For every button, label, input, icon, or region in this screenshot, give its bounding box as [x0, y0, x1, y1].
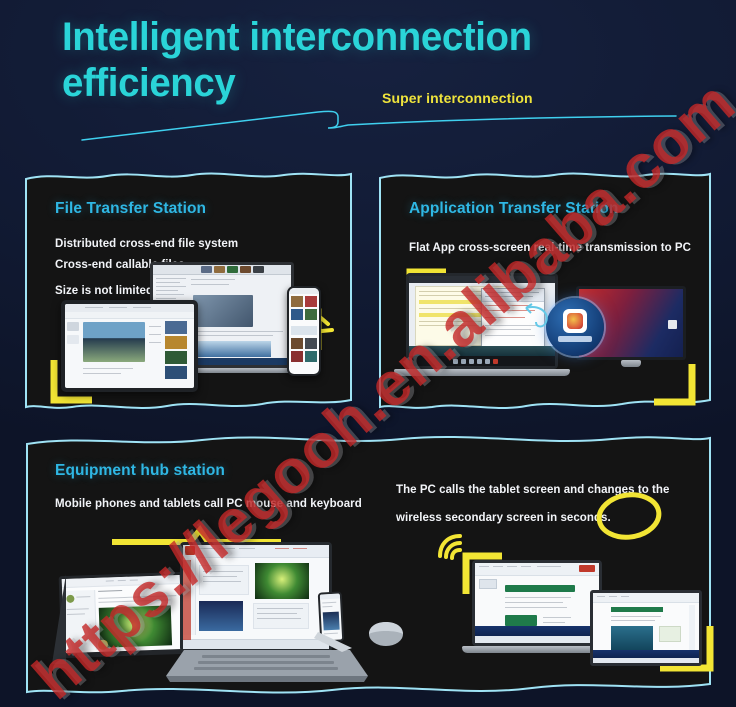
card-title: Equipment hub station [55, 462, 225, 480]
circle-highlight-icon [594, 490, 664, 542]
laptop-device [180, 542, 332, 652]
card-title: Application Transfer Station [409, 200, 619, 218]
mouse-icon [366, 618, 406, 650]
laptop-device [472, 560, 602, 646]
secondary-screen-device [590, 590, 702, 666]
card-application-transfer-station: Application Transfer Station Flat App cr… [376, 168, 714, 411]
card-equipment-hub-station: Equipment hub station Mobile phones and … [22, 432, 714, 696]
card-file-transfer-station: File Transfer Station Distributed cross-… [22, 168, 355, 411]
phone-device [287, 286, 321, 376]
tablet-device [61, 300, 198, 392]
phone-stand-icon [312, 630, 358, 656]
transfer-arrow-icon [524, 300, 564, 336]
card-body-line: Distributed cross-end file system [55, 238, 238, 250]
super-interconnection-label: Super interconnection [382, 90, 533, 106]
card-body-line: Size is not limited [55, 285, 153, 297]
poster-canvas: Intelligent interconnection efficiency S… [0, 0, 736, 707]
card-body-line: Mobile phones and tablets call PC mouse … [55, 498, 362, 510]
swoosh-divider-icon [80, 100, 680, 145]
kickstand-icon [50, 572, 90, 668]
card-body-line: Flat App cross-screen real-time transmis… [409, 242, 691, 254]
card-title: File Transfer Station [55, 200, 206, 218]
card-body-line-right: wireless secondary screen in seconds. [396, 512, 611, 524]
